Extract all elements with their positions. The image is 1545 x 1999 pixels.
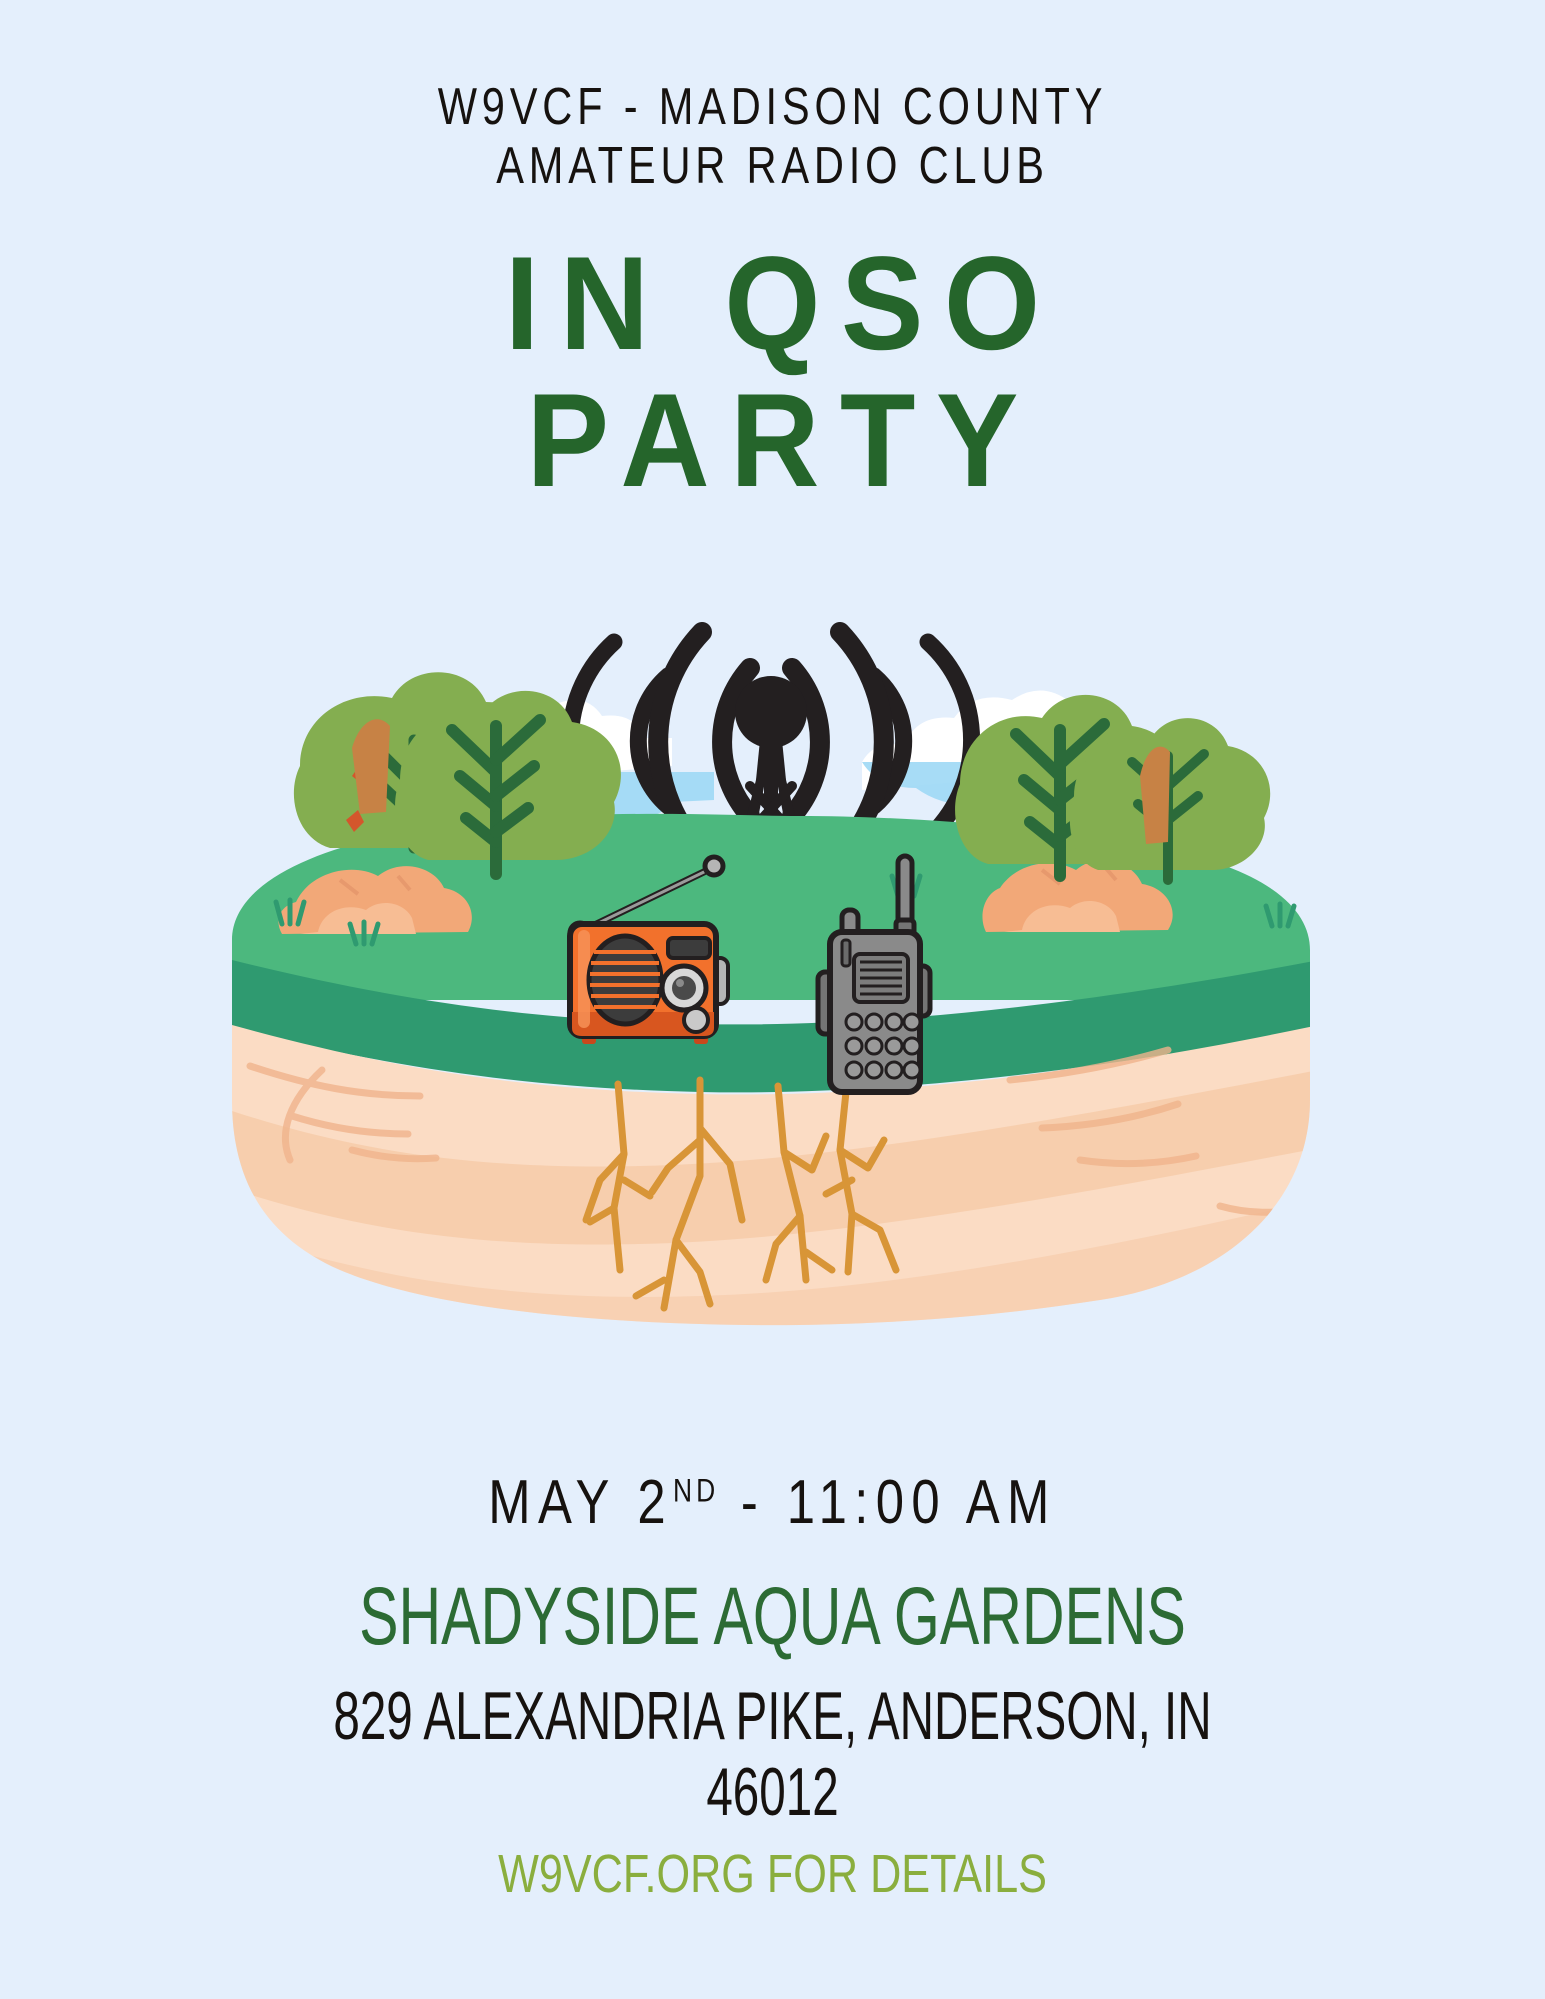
event-date-prefix: MAY 2 xyxy=(488,1468,673,1537)
title-line-1: IN QSO xyxy=(54,236,1491,373)
venue-name: SHADYSIDE AQUA GARDENS xyxy=(216,1570,1328,1664)
illustration xyxy=(0,580,1545,1410)
poster-canvas: W9VCF - MADISON COUNTY AMATEUR RADIO CLU… xyxy=(0,0,1545,1999)
page-title: IN QSO PARTY xyxy=(0,236,1545,510)
event-datetime: MAY 2ND - 11:00 AM xyxy=(139,1467,1406,1538)
title-line-2: PARTY xyxy=(54,373,1491,510)
venue-address: 829 ALEXANDRIA PIKE, ANDERSON, IN 46012 xyxy=(232,1678,1314,1830)
event-date-ordinal: ND xyxy=(673,1472,719,1508)
website-link[interactable]: W9VCF.ORG FOR DETAILS xyxy=(155,1843,1391,1905)
club-name: W9VCF - MADISON COUNTY AMATEUR RADIO CLU… xyxy=(155,78,1391,197)
event-time: - 11:00 AM xyxy=(719,1468,1056,1537)
